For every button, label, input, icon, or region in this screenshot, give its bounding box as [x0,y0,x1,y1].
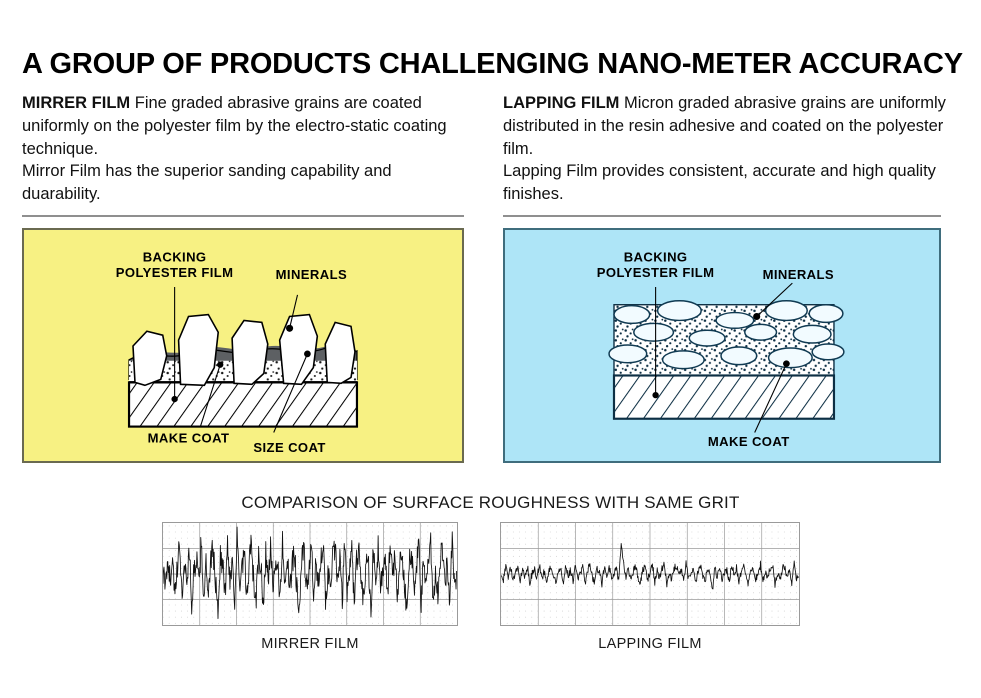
backing-marker-dot [652,392,658,398]
roughness-chart-mirrer-svg [163,523,457,625]
lapping-cross-section-svg: BACKING POLYESTER FILM MINERALS MAKE COA… [505,230,939,461]
mirrer-cross-section-svg: BACKING POLYESTER FILM MINERALS MAKE COA… [24,230,462,461]
label-size-coat: SIZE COAT [253,440,325,455]
caption-lapping: LAPPING FILM [500,636,800,652]
label-backing-line2: POLYESTER FILM [116,265,234,280]
diagram-panel-lapping: BACKING POLYESTER FILM MINERALS MAKE COA… [503,228,941,463]
label-make-coat: MAKE COAT [148,430,230,445]
mineral-grain [609,345,647,363]
make-coat-marker-dot [783,360,790,367]
mineral-grain [232,320,268,384]
mineral-grain [769,348,813,368]
page-title: A GROUP OF PRODUCTS CHALLENGING NANO-MET… [22,48,962,81]
backing-marker-dot [171,396,177,402]
mineral-grain [614,306,650,324]
minerals-marker-dot [753,313,760,320]
description-mirrer-para2: Mirror Film has the superior sanding cap… [22,160,474,206]
label-backing-line2: POLYESTER FILM [597,265,715,280]
diagram-panel-mirrer: BACKING POLYESTER FILM MINERALS MAKE COA… [22,228,464,463]
mineral-grain [325,322,355,383]
mineral-grain [133,331,167,385]
label-backing-line1: BACKING [143,250,207,265]
mineral-grain [793,325,831,343]
description-mirrer: MIRRER FILM Fine graded abrasive grains … [22,92,474,206]
roughness-chart-lapping-svg [501,523,799,625]
description-mirrer-lead: MIRRER FILM [22,94,130,112]
brochure-page: A GROUP OF PRODUCTS CHALLENGING NANO-MET… [0,0,981,698]
mineral-grain [812,344,844,360]
label-minerals: MINERALS [763,267,834,282]
minerals-marker-dot [286,325,293,332]
mineral-grain [716,313,754,329]
comparison-title: COMPARISON OF SURFACE ROUGHNESS WITH SAM… [0,493,981,513]
backing-polyester-film-layer [129,382,357,426]
mineral-grain [689,330,725,346]
mineral-grain [634,323,674,341]
mineral-grain [658,301,702,321]
caption-mirrer: MIRRER FILM [162,636,458,652]
label-backing-line1: BACKING [624,250,688,265]
mineral-grain [809,305,843,323]
mineral-grain [766,301,808,321]
description-mirrer-para1: MIRRER FILM Fine graded abrasive grains … [22,92,474,160]
roughness-chart-mirrer [162,522,458,626]
roughness-chart-lapping [500,522,800,626]
label-minerals: MINERALS [276,267,347,282]
backing-polyester-film-layer [614,375,834,418]
divider-right [503,215,941,217]
mineral-grain [745,324,777,340]
description-lapping-para1: LAPPING FILM Micron graded abrasive grai… [503,92,955,160]
mineral-grain [721,347,757,365]
make-coat-marker-dot [217,362,223,368]
mineral-grain [663,351,705,369]
description-lapping-lead: LAPPING FILM [503,94,619,112]
description-lapping-para2: Lapping Film provides consistent, accura… [503,160,955,206]
label-make-coat: MAKE COAT [708,434,790,449]
description-lapping: LAPPING FILM Micron graded abrasive grai… [503,92,955,206]
divider-left [22,215,464,217]
size-coat-marker-dot [304,351,311,358]
